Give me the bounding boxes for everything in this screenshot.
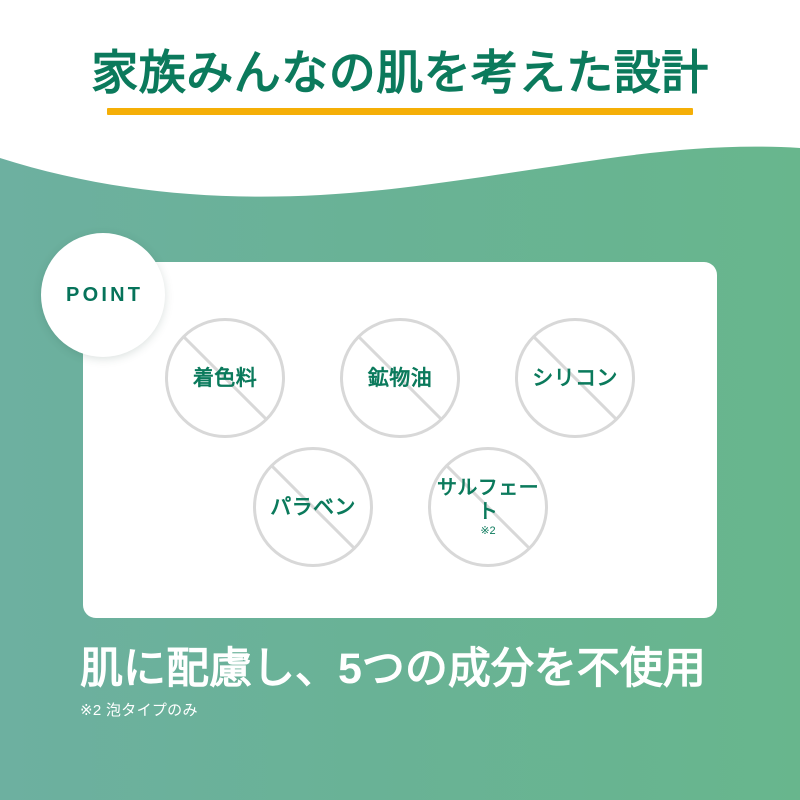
- no-use-label: 着色料: [193, 366, 257, 391]
- point-badge-label: POINT: [63, 284, 143, 307]
- promo-graphic: 家族みんなの肌を考えた設計 着色料 鉱物油 シリコン パラベン サルフェート ※…: [0, 0, 800, 800]
- footer-headline: 肌に配慮し、5つの成分を不使用: [80, 643, 740, 695]
- no-use-label: サルフェート: [436, 476, 540, 524]
- point-badge: POINT: [41, 233, 165, 357]
- no-use-circle-silicone: シリコン: [515, 318, 635, 438]
- footer-note: ※2 泡タイプのみ: [80, 701, 740, 720]
- headline-block: 家族みんなの肌を考えた設計: [0, 44, 800, 115]
- no-use-circle-sulfate: サルフェート ※2: [428, 447, 548, 567]
- no-use-circle-group: 着色料 鉱物油 シリコン パラベン サルフェート ※2: [83, 262, 717, 618]
- no-use-footnote-marker: ※2: [480, 525, 495, 538]
- no-use-label: シリコン: [532, 366, 618, 391]
- footer-block: 肌に配慮し、5つの成分を不使用 ※2 泡タイプのみ: [80, 643, 740, 720]
- no-use-label: 鉱物油: [368, 366, 432, 391]
- page-title: 家族みんなの肌を考えた設計: [0, 44, 800, 102]
- no-use-circle-paraben: パラベン: [253, 447, 373, 567]
- no-use-circle-mineral-oil: 鉱物油: [340, 318, 460, 438]
- headline-underline: [107, 108, 693, 115]
- no-use-label: パラベン: [270, 495, 356, 520]
- no-use-circle-colorant: 着色料: [165, 318, 285, 438]
